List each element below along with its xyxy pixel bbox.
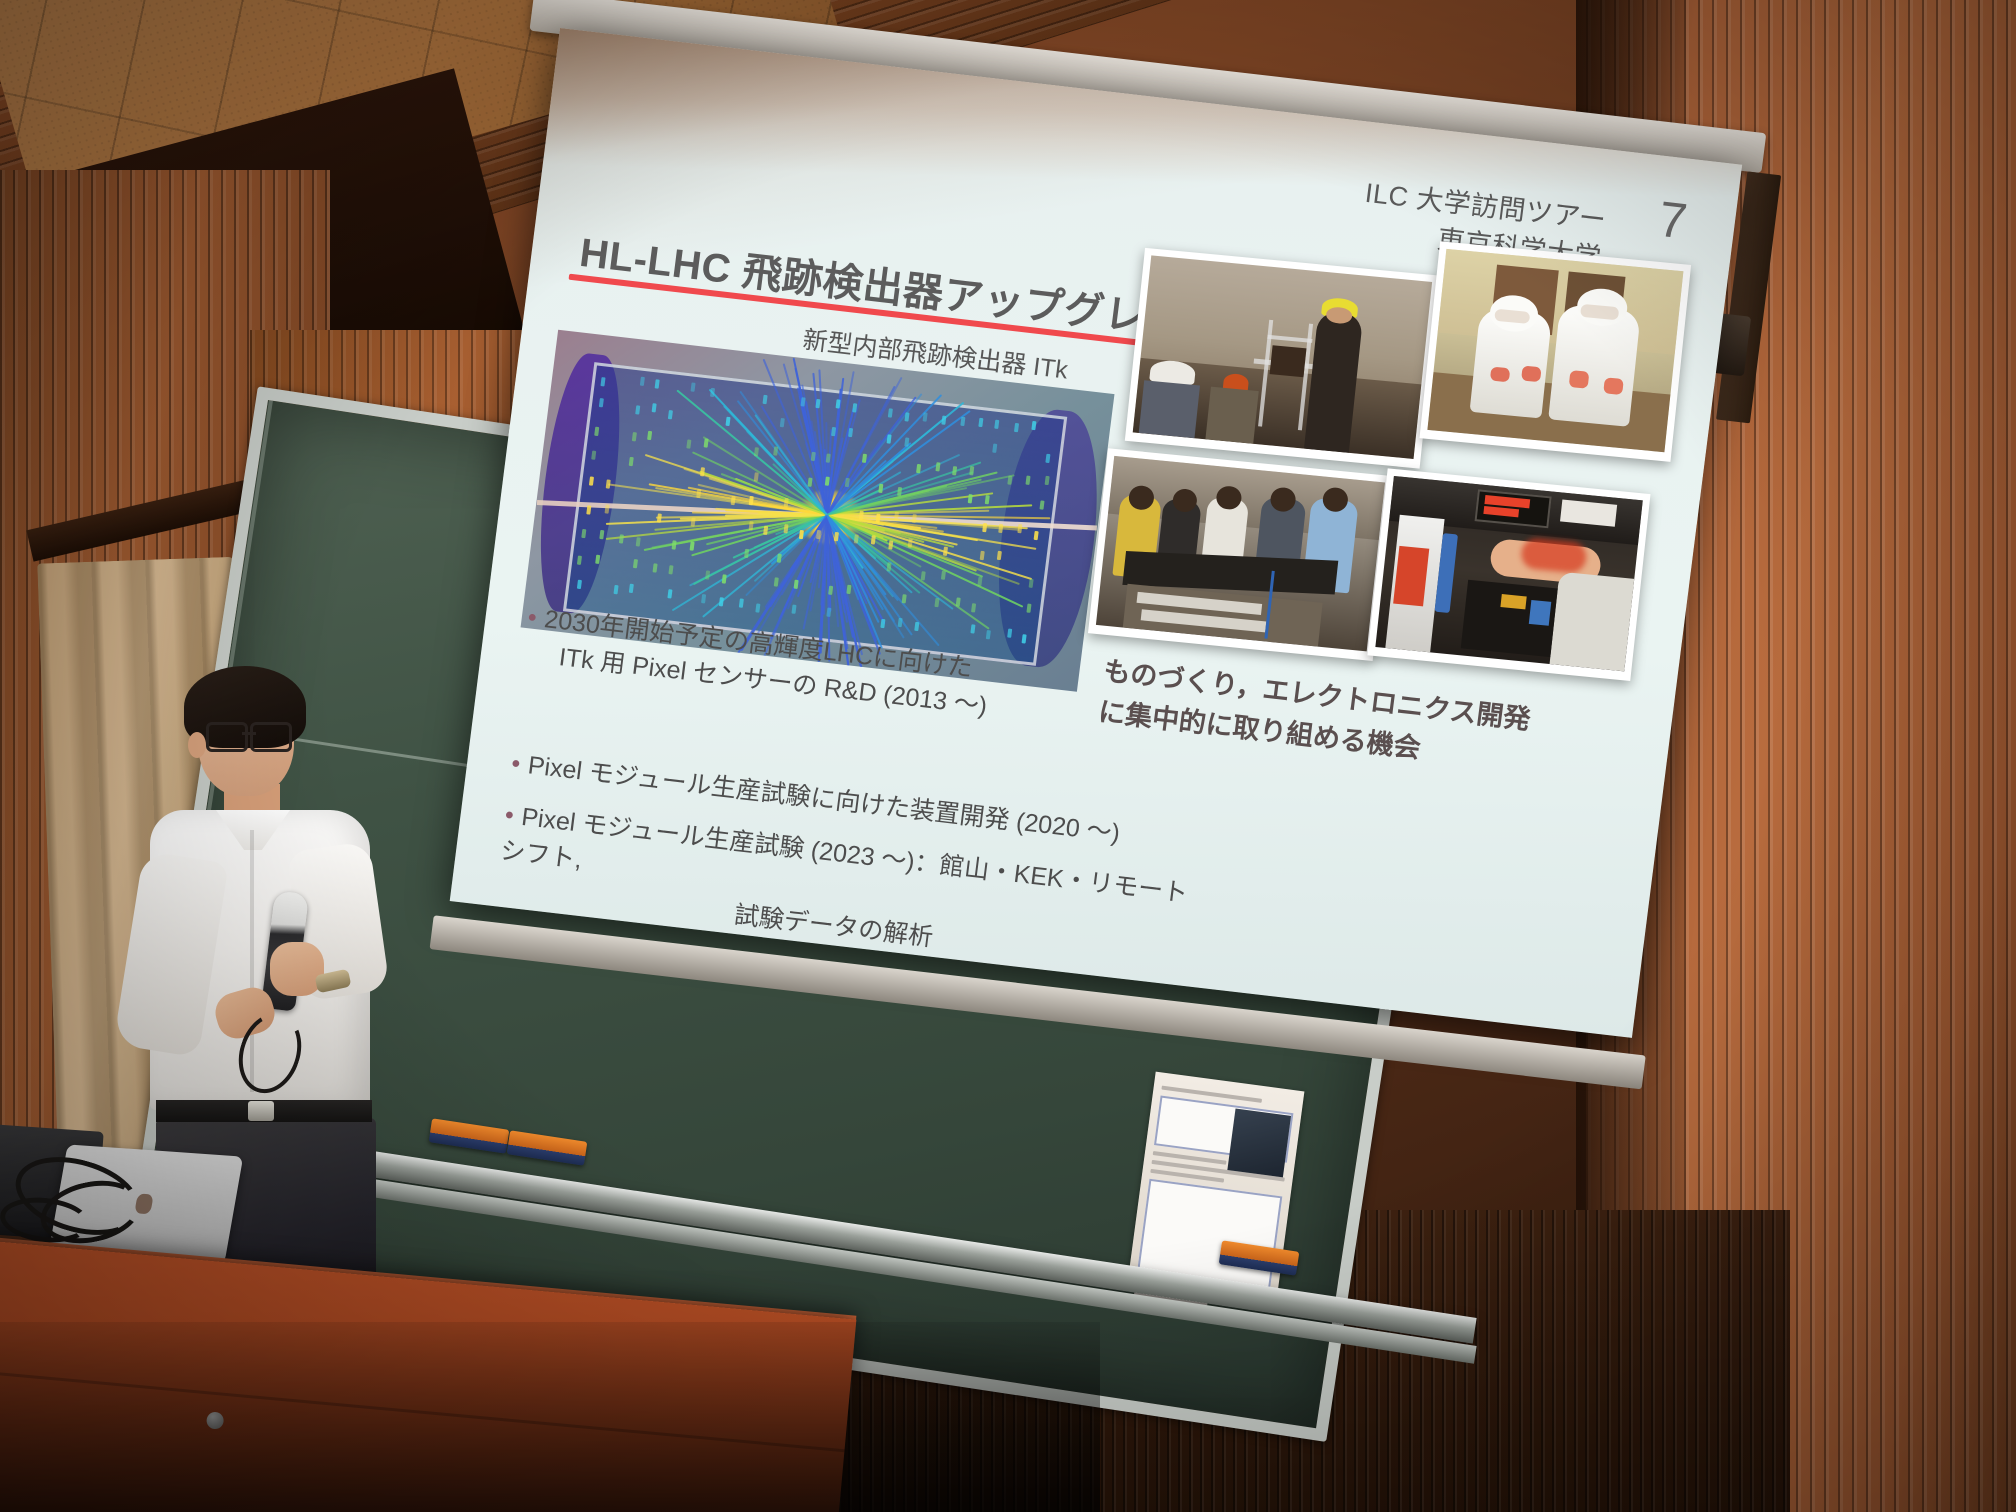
slide-page-number: 7	[1655, 190, 1690, 251]
slide-content: 7 ILC 大学訪問ツアー 東京科学大学 HL-LHC 飛跡検出器アップグレード…	[450, 28, 1742, 1038]
photo-electronics-hands	[1367, 468, 1650, 681]
screen-surface: 7 ILC 大学訪問ツアー 東京科学大学 HL-LHC 飛跡検出器アップグレード…	[450, 28, 1742, 1038]
bullet-marker: •	[503, 801, 515, 830]
bullet-marker: •	[510, 749, 522, 778]
glasses-icon	[206, 722, 292, 748]
lecture-hall-background: 7 ILC 大学訪問ツアー 東京科学大学 HL-LHC 飛跡検出器アップグレード…	[0, 0, 2016, 1512]
floor-shadow	[0, 1322, 1100, 1512]
projection-screen: 7 ILC 大学訪問ツアー 東京科学大学 HL-LHC 飛跡検出器アップグレード…	[447, 28, 1742, 1058]
photo-machine-hall-hardhats	[1125, 248, 1440, 469]
presenter-right-hand	[270, 942, 324, 996]
presenter-ear	[188, 732, 206, 758]
photo-lab-bench-students	[1088, 448, 1393, 661]
screenshot-root: 7 ILC 大学訪問ツアー 東京科学大学 HL-LHC 飛跡検出器アップグレード…	[0, 0, 2016, 1512]
photo-caption: ものづくり，エレクトロニクス開発 に集中的に取り組める機会	[1096, 651, 1573, 785]
belt-buckle	[248, 1101, 274, 1121]
notice-thumbnail	[1227, 1109, 1291, 1178]
photo-cleanroom-workers	[1419, 241, 1691, 462]
